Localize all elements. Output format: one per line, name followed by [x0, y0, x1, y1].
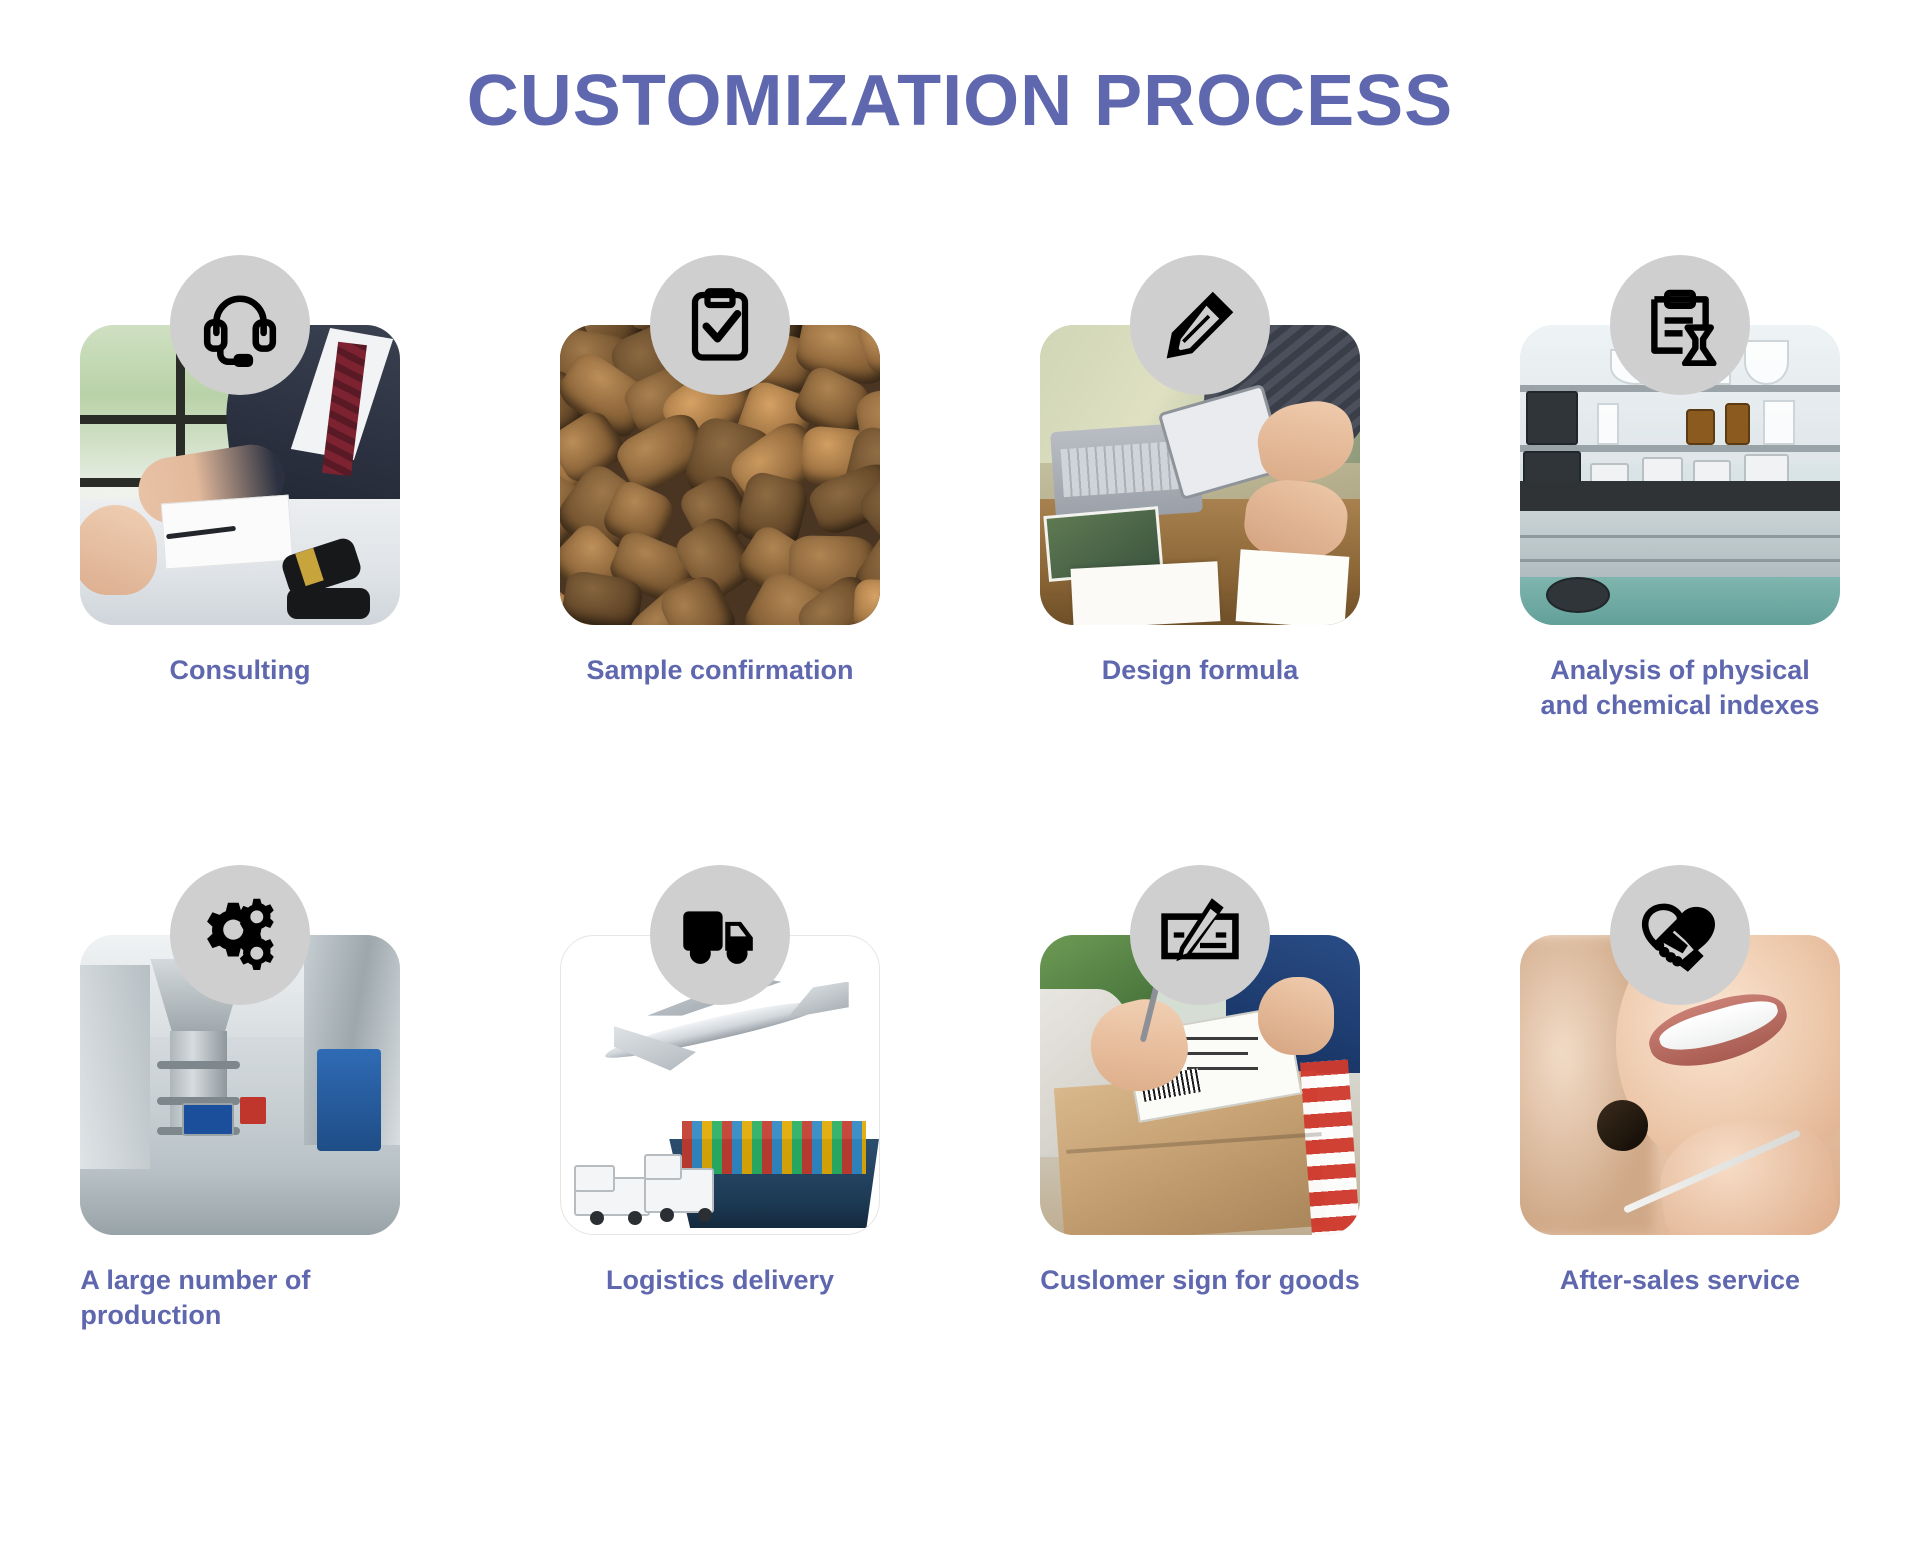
process-row-bottom: A large number of production	[0, 865, 1920, 1165]
clipboard-flask-icon	[1610, 255, 1750, 395]
pencil-icon	[1130, 255, 1270, 395]
process-step-logistics[interactable]: Logistics delivery	[480, 865, 960, 1165]
tile-logistics	[560, 865, 880, 1165]
infographic-canvas: CUSTOMIZATION PROCESS	[0, 0, 1920, 1567]
tile-analysis	[1520, 255, 1840, 555]
step-label-analysis: Analysis of physical and chemical indexe…	[1480, 653, 1880, 722]
process-step-production[interactable]: A large number of production	[0, 865, 480, 1165]
step-label-sample-confirmation: Sample confirmation	[520, 653, 920, 688]
delivery-truck-icon	[650, 865, 790, 1005]
gears-icon	[170, 865, 310, 1005]
clipboard-check-icon	[650, 255, 790, 395]
step-label-production: A large number of production	[80, 1263, 380, 1332]
tile-consulting	[80, 255, 400, 555]
step-label-design-formula: Design formula	[1000, 653, 1400, 688]
tile-production	[80, 865, 400, 1165]
step-label-analysis-line1: Analysis of physical	[1480, 653, 1880, 688]
step-label-after-sales: After-sales service	[1480, 1263, 1880, 1298]
process-step-consulting[interactable]: Consulting	[0, 255, 480, 555]
tile-sample-confirmation	[560, 255, 880, 555]
tile-after-sales	[1520, 865, 1840, 1165]
step-label-production-line2: production	[80, 1298, 380, 1333]
tile-customer-sign	[1040, 865, 1360, 1165]
process-row-top: Consulting Sample confirmation	[0, 255, 1920, 555]
sign-document-icon	[1130, 865, 1270, 1005]
step-label-customer-sign: Cuslomer sign for goods	[1000, 1263, 1400, 1298]
tile-design-formula	[1040, 255, 1360, 555]
page-title: CUSTOMIZATION PROCESS	[0, 60, 1920, 142]
step-label-logistics: Logistics delivery	[520, 1263, 920, 1298]
step-label-production-line1: A large number of	[80, 1263, 380, 1298]
process-step-sample-confirmation[interactable]: Sample confirmation	[480, 255, 960, 555]
process-step-after-sales[interactable]: After-sales service	[1440, 865, 1920, 1165]
headset-icon	[170, 255, 310, 395]
process-step-design-formula[interactable]: Design formula	[960, 255, 1440, 555]
handshake-heart-icon	[1610, 865, 1750, 1005]
process-step-analysis[interactable]: Analysis of physical and chemical indexe…	[1440, 255, 1920, 555]
process-step-customer-sign[interactable]: Cuslomer sign for goods	[960, 865, 1440, 1165]
step-label-consulting: Consulting	[40, 653, 440, 688]
step-label-analysis-line2: and chemical indexes	[1480, 688, 1880, 723]
